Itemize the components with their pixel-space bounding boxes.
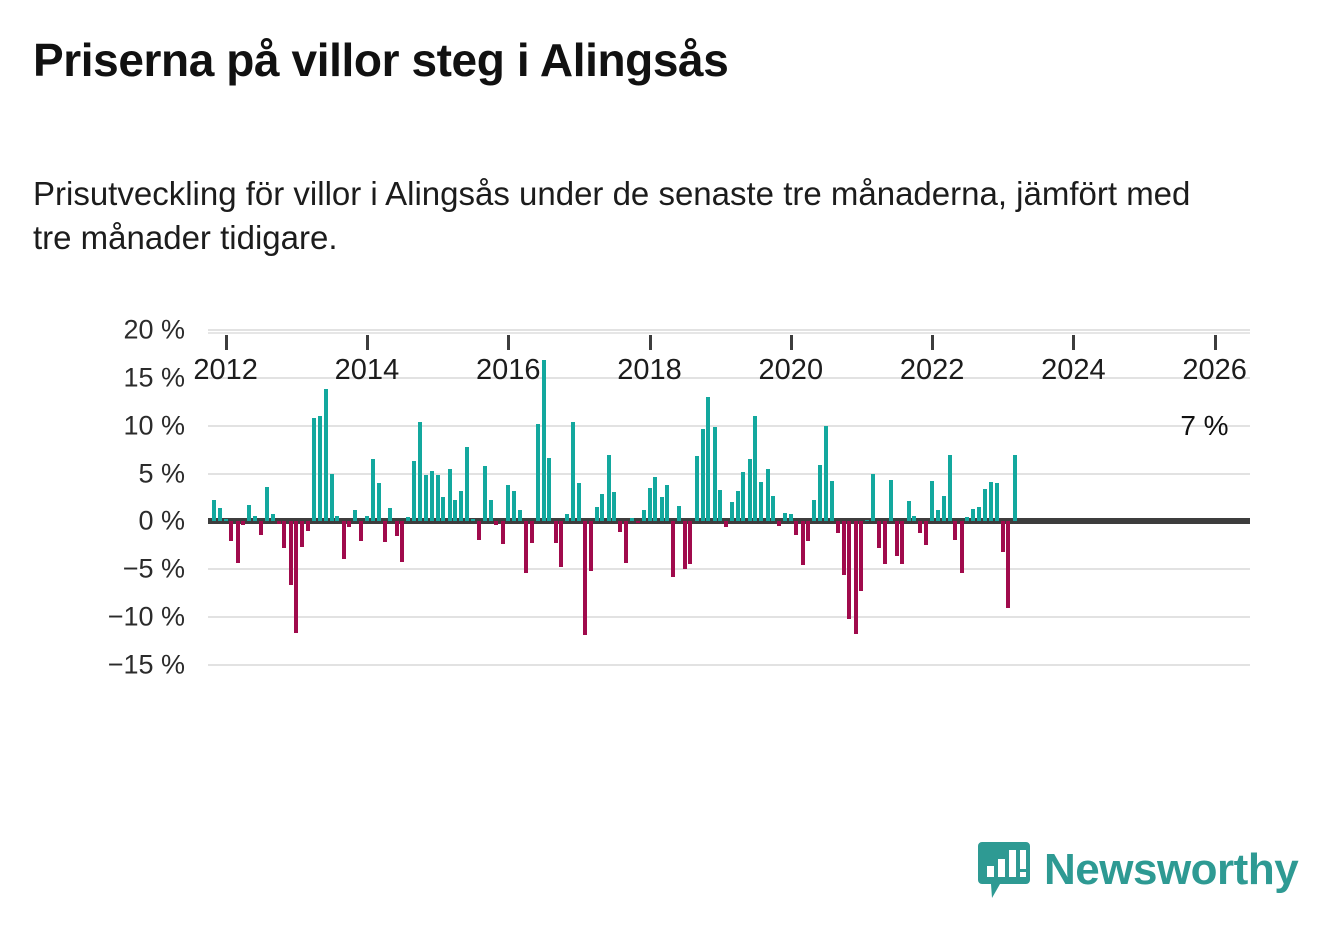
bar xyxy=(618,521,622,532)
x-tick-label: 2014 xyxy=(335,354,400,387)
bar xyxy=(554,521,558,543)
bar xyxy=(300,521,304,547)
bar xyxy=(471,519,475,522)
bar xyxy=(547,458,551,521)
x-tick-label: 2022 xyxy=(900,354,965,387)
bar xyxy=(306,521,310,531)
bar xyxy=(912,516,916,522)
bar xyxy=(695,456,699,521)
gridline xyxy=(208,616,1250,618)
gridline xyxy=(208,425,1250,427)
bar xyxy=(483,466,487,522)
bar xyxy=(448,469,452,522)
bar xyxy=(930,481,934,521)
bar xyxy=(753,416,757,521)
bar xyxy=(312,418,316,521)
x-tick-label: 2016 xyxy=(476,354,541,387)
bar xyxy=(1013,455,1017,521)
bar xyxy=(977,507,981,521)
bar xyxy=(612,492,616,522)
x-tick-label: 2012 xyxy=(193,354,258,387)
x-tick xyxy=(366,335,369,350)
bar xyxy=(565,514,569,522)
bar xyxy=(865,520,869,522)
bar xyxy=(665,485,669,521)
bar xyxy=(660,497,664,522)
x-tick xyxy=(225,335,228,350)
bar xyxy=(224,519,228,522)
bar xyxy=(883,521,887,563)
bar xyxy=(294,521,298,633)
bar xyxy=(677,506,681,521)
bar xyxy=(842,521,846,575)
bar xyxy=(436,475,440,522)
bar xyxy=(418,422,422,522)
bar xyxy=(777,521,781,526)
bar xyxy=(501,521,505,544)
bar xyxy=(730,502,734,521)
bar xyxy=(524,521,528,573)
bar xyxy=(353,510,357,521)
bar xyxy=(489,500,493,521)
bar xyxy=(895,521,899,555)
bar xyxy=(365,516,369,522)
bar xyxy=(335,516,339,522)
bar xyxy=(889,480,893,521)
page-subtitle: Prisutveckling för villor i Alingsås und… xyxy=(33,172,1223,260)
bar xyxy=(453,500,457,521)
gridline xyxy=(208,473,1250,475)
bar xyxy=(918,521,922,532)
bar xyxy=(583,521,587,635)
bar xyxy=(718,490,722,522)
bar xyxy=(253,516,257,522)
y-tick-label: 5 % xyxy=(25,458,185,489)
bar xyxy=(971,509,975,521)
bar xyxy=(847,521,851,619)
bar xyxy=(347,521,351,527)
y-tick-label: 0 % xyxy=(25,506,185,537)
bar xyxy=(536,424,540,522)
bar xyxy=(324,389,328,521)
bar xyxy=(783,513,787,522)
bar xyxy=(400,521,404,561)
bar xyxy=(595,507,599,521)
bar xyxy=(430,471,434,522)
bar xyxy=(277,521,281,524)
bar xyxy=(965,517,969,522)
x-tick xyxy=(649,335,652,350)
gridline xyxy=(208,664,1250,666)
bar xyxy=(600,494,604,522)
bar xyxy=(859,521,863,591)
bar xyxy=(571,422,575,522)
bar xyxy=(512,491,516,522)
y-tick-label: −10 % xyxy=(25,602,185,633)
newsworthy-logo: Newsworthy xyxy=(978,842,1298,898)
bar xyxy=(877,521,881,548)
bar xyxy=(330,474,334,522)
x-tick xyxy=(1214,335,1217,350)
bar xyxy=(989,482,993,521)
bar xyxy=(247,505,251,521)
bar xyxy=(607,455,611,521)
x-tick xyxy=(1072,335,1075,350)
bar xyxy=(741,472,745,522)
bar xyxy=(736,491,740,522)
y-tick-label: −15 % xyxy=(25,650,185,681)
bar-chart-speech-bubble-icon xyxy=(978,842,1030,898)
bar xyxy=(342,521,346,558)
bar xyxy=(871,474,875,522)
bar xyxy=(766,469,770,522)
gridline xyxy=(208,329,1250,331)
bar xyxy=(289,521,293,584)
bar xyxy=(907,501,911,521)
bar xyxy=(282,521,286,548)
bar xyxy=(259,521,263,534)
bar xyxy=(218,508,222,521)
bar xyxy=(465,447,469,522)
bar xyxy=(648,488,652,522)
bar xyxy=(630,518,634,522)
bar xyxy=(771,496,775,522)
bar xyxy=(818,465,822,521)
bar xyxy=(559,521,563,567)
y-tick-label: −5 % xyxy=(25,554,185,585)
bar xyxy=(388,508,392,521)
x-tick-label: 2018 xyxy=(617,354,682,387)
bar xyxy=(936,510,940,521)
bar xyxy=(953,521,957,539)
x-axis: 20122014201620182020202220242026 xyxy=(208,332,1250,402)
bar xyxy=(748,459,752,521)
page-title: Priserna på villor steg i Alingsås xyxy=(33,33,728,87)
bar xyxy=(812,500,816,521)
bar xyxy=(318,416,322,521)
bar xyxy=(271,514,275,522)
bar xyxy=(577,483,581,521)
bar xyxy=(1006,521,1010,607)
bar xyxy=(459,491,463,522)
bar xyxy=(624,521,628,562)
bar xyxy=(406,517,410,522)
bar xyxy=(359,521,363,540)
x-axis-line xyxy=(208,332,1250,334)
bar xyxy=(494,521,498,525)
bar xyxy=(701,429,705,522)
bar xyxy=(589,521,593,571)
bar xyxy=(924,521,928,545)
gridline xyxy=(208,568,1250,570)
bar xyxy=(642,510,646,521)
bar xyxy=(506,485,510,521)
bar xyxy=(759,482,763,521)
bar xyxy=(942,496,946,522)
bar xyxy=(424,475,428,521)
bar xyxy=(824,426,828,522)
bar xyxy=(530,521,534,543)
bar xyxy=(241,521,245,525)
bar xyxy=(671,521,675,577)
bar xyxy=(636,521,640,523)
bar xyxy=(724,521,728,527)
bar xyxy=(836,521,840,532)
bar xyxy=(706,397,710,521)
x-tick-label: 2020 xyxy=(759,354,824,387)
bar xyxy=(229,521,233,540)
bar xyxy=(983,489,987,522)
bar xyxy=(395,521,399,535)
bar xyxy=(212,500,216,521)
y-tick-label: 15 % xyxy=(25,362,185,393)
bar xyxy=(1001,521,1005,552)
bar xyxy=(713,427,717,522)
bar xyxy=(801,521,805,565)
bar xyxy=(518,510,522,521)
x-tick-label: 2024 xyxy=(1041,354,1106,387)
bar xyxy=(794,521,798,534)
bar xyxy=(377,483,381,521)
y-tick-label: 10 % xyxy=(25,410,185,441)
bar xyxy=(948,455,952,521)
y-axis-labels: 20 %15 %10 %5 %0 %−5 %−10 %−15 % xyxy=(20,330,185,670)
x-tick xyxy=(790,335,793,350)
bar xyxy=(383,521,387,542)
bar xyxy=(477,521,481,539)
bar xyxy=(995,483,999,521)
bar xyxy=(412,461,416,521)
bar xyxy=(653,477,657,521)
bar xyxy=(806,521,810,540)
newsworthy-wordmark: Newsworthy xyxy=(1044,845,1298,895)
x-tick xyxy=(931,335,934,350)
bar xyxy=(789,514,793,522)
bar xyxy=(688,521,692,564)
bar xyxy=(960,521,964,573)
y-tick-label: 20 % xyxy=(25,315,185,346)
bar xyxy=(900,521,904,563)
bar xyxy=(854,521,858,634)
bar xyxy=(236,521,240,562)
bar xyxy=(371,459,375,521)
bar xyxy=(265,487,269,521)
last-value-annotation: 7 % xyxy=(1180,410,1228,442)
x-tick xyxy=(507,335,510,350)
bar xyxy=(441,497,445,522)
bar xyxy=(830,481,834,521)
bar xyxy=(683,521,687,569)
x-tick-label: 2026 xyxy=(1182,354,1247,387)
